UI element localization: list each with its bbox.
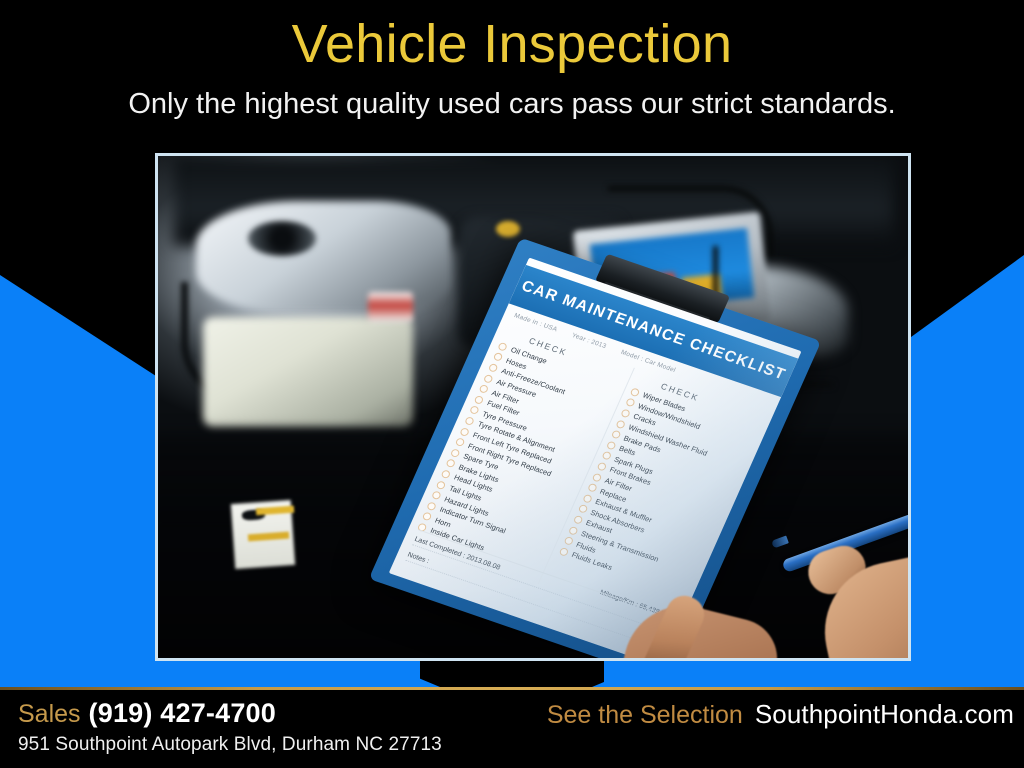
checkbox-bubble-icon[interactable] xyxy=(455,437,466,447)
page-title: Vehicle Inspection xyxy=(0,16,1024,73)
checkbox-bubble-icon[interactable] xyxy=(615,419,626,429)
checkbox-bubble-icon[interactable] xyxy=(493,352,504,362)
checkbox-bubble-icon[interactable] xyxy=(445,459,456,469)
checkbox-bubble-icon[interactable] xyxy=(577,504,588,514)
footer: Sales (919) 427-4700 951 Southpoint Auto… xyxy=(0,690,1024,768)
footer-website-link[interactable]: SouthpointHonda.com xyxy=(755,699,1014,730)
coolant-reservoir xyxy=(203,317,413,427)
checkbox-bubble-icon[interactable] xyxy=(610,430,621,440)
checkbox-bubble-icon[interactable] xyxy=(483,373,494,383)
page-subtitle: Only the highest quality used cars pass … xyxy=(0,88,1024,121)
checkbox-bubble-icon[interactable] xyxy=(591,472,602,482)
footer-address: 951 Southpoint Autopark Blvd, Durham NC … xyxy=(18,734,442,756)
checkbox-bubble-icon[interactable] xyxy=(464,416,475,426)
checkbox-bubble-icon[interactable] xyxy=(572,515,583,525)
checkbox-bubble-icon[interactable] xyxy=(436,480,447,490)
checkbox-bubble-icon[interactable] xyxy=(558,546,569,556)
checkbox-bubble-icon[interactable] xyxy=(620,408,631,418)
checkbox-bubble-icon[interactable] xyxy=(450,448,461,458)
checkbox-bubble-icon[interactable] xyxy=(469,405,480,415)
footer-cta-label: See the Selection xyxy=(547,701,743,730)
checkbox-bubble-icon[interactable] xyxy=(605,440,616,450)
checkbox-bubble-icon[interactable] xyxy=(497,342,508,352)
footer-sales-line: Sales (919) 427-4700 xyxy=(18,698,442,729)
checkbox-bubble-icon[interactable] xyxy=(582,493,593,503)
checkbox-bubble-icon[interactable] xyxy=(596,461,607,471)
footer-phone-number[interactable]: (919) 427-4700 xyxy=(89,698,276,729)
blue-bottom-band xyxy=(0,662,1024,687)
footer-sales-label: Sales xyxy=(18,700,81,729)
red-cap-icon xyxy=(368,292,413,322)
checkbox-bubble-icon[interactable] xyxy=(440,469,451,479)
footer-cta-block: See the Selection SouthpointHonda.com xyxy=(547,699,1014,730)
checkbox-bubble-icon[interactable] xyxy=(478,384,489,394)
checkbox-bubble-icon[interactable] xyxy=(488,363,499,373)
footer-contact-block: Sales (919) 427-4700 951 Southpoint Auto… xyxy=(18,698,442,756)
checkbox-bubble-icon[interactable] xyxy=(629,387,640,397)
checkbox-bubble-icon[interactable] xyxy=(601,451,612,461)
hero-photo: CAR MAINTENANCE CHECKLIST Made in : USA … xyxy=(155,153,911,661)
checkbox-bubble-icon[interactable] xyxy=(624,398,635,408)
checkbox-bubble-icon[interactable] xyxy=(422,512,433,522)
checkbox-bubble-icon[interactable] xyxy=(431,490,442,500)
vehicle-inspection-ad: Vehicle Inspection Only the highest qual… xyxy=(0,0,1024,768)
checkbox-bubble-icon[interactable] xyxy=(474,395,485,405)
checkbox-bubble-icon[interactable] xyxy=(587,483,598,493)
oil-cap-icon xyxy=(248,221,316,256)
checkbox-bubble-icon[interactable] xyxy=(563,536,574,546)
checkbox-bubble-icon[interactable] xyxy=(459,427,470,437)
yellow-dipstick-icon xyxy=(496,221,520,237)
checkbox-bubble-icon[interactable] xyxy=(426,501,437,511)
checkbox-bubble-icon[interactable] xyxy=(568,525,579,535)
